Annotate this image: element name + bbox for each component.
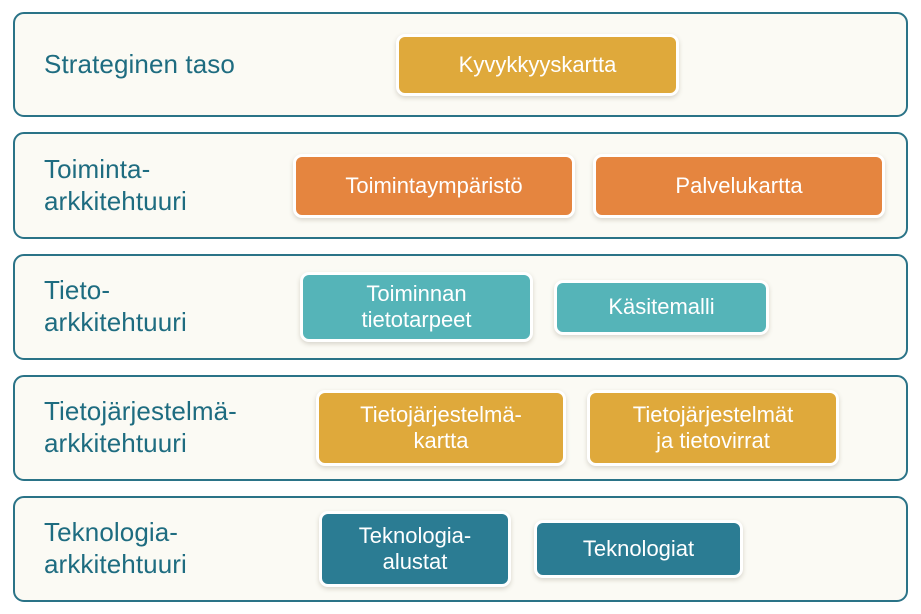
layer-row-toiminta-arkkitehtuuri: Toiminta- arkkitehtuuri Toimintaympärist…: [13, 132, 908, 239]
layer-label-teknologia-arkkitehtuuri: Teknologia- arkkitehtuuri: [44, 517, 319, 580]
chip-teknologia-alustat[interactable]: Teknologia- alustat: [319, 511, 511, 587]
layer-row-tietojarjestelma-arkkitehtuuri: Tietojärjestelmä- arkkitehtuuri Tietojär…: [13, 375, 908, 481]
chip-kasitemalli[interactable]: Käsitemalli: [554, 280, 769, 335]
chip-tietojarjestelmat-ja-tietovirrat[interactable]: Tietojärjestelmät ja tietovirrat: [587, 390, 839, 466]
chip-toiminnan-tietotarpeet[interactable]: Toiminnan tietotarpeet: [300, 272, 533, 342]
layer-row-strateginen-taso: Strateginen taso Kyvykkyyskartta: [13, 12, 908, 117]
chip-group-tietojarjestelma-arkkitehtuuri: Tietojärjestelmä- kartta Tietojärjestelm…: [316, 390, 839, 466]
architecture-layers-diagram: Strateginen taso Kyvykkyyskartta Toimint…: [0, 0, 921, 614]
layer-row-tieto-arkkitehtuuri: Tieto- arkkitehtuuri Toiminnan tietotarp…: [13, 254, 908, 360]
chip-palvelukartta[interactable]: Palvelukartta: [593, 154, 885, 218]
layer-label-tieto-arkkitehtuuri: Tieto- arkkitehtuuri: [44, 275, 300, 338]
layer-label-toiminta-arkkitehtuuri: Toiminta- arkkitehtuuri: [44, 154, 293, 217]
chip-kyvykkyyskartta[interactable]: Kyvykkyyskartta: [396, 34, 679, 96]
chip-toimintaymparisto[interactable]: Toimintaympäristö: [293, 154, 575, 218]
chip-tietojarjestelmakartta[interactable]: Tietojärjestelmä- kartta: [316, 390, 566, 466]
layer-row-teknologia-arkkitehtuuri: Teknologia- arkkitehtuuri Teknologia- al…: [13, 496, 908, 602]
chip-group-toiminta-arkkitehtuuri: Toimintaympäristö Palvelukartta: [293, 154, 885, 218]
chip-group-teknologia-arkkitehtuuri: Teknologia- alustat Teknologiat: [319, 511, 743, 587]
layer-label-tietojarjestelma-arkkitehtuuri: Tietojärjestelmä- arkkitehtuuri: [44, 396, 316, 459]
chip-group-tieto-arkkitehtuuri: Toiminnan tietotarpeet Käsitemalli: [300, 272, 769, 342]
layer-label-strateginen-taso: Strateginen taso: [44, 49, 396, 81]
chip-group-strateginen-taso: Kyvykkyyskartta: [396, 34, 679, 96]
chip-teknologiat[interactable]: Teknologiat: [534, 520, 743, 578]
